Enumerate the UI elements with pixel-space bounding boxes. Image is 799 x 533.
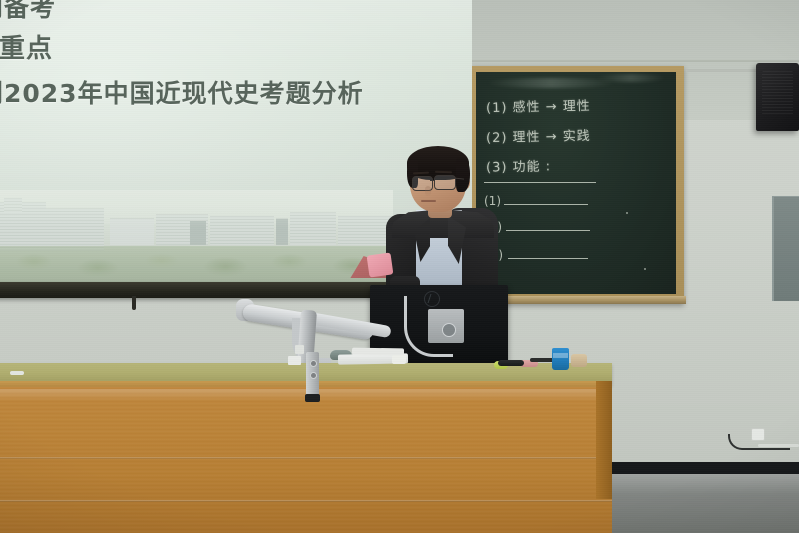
clamp-foot [305, 394, 320, 402]
desk-beige-object[interactable] [571, 354, 587, 367]
slide-line-1: 问备考 [0, 0, 56, 24]
chalk-dot [626, 212, 628, 214]
pink-object [367, 252, 394, 277]
slide-line-3: 到2023年中国近现代史考题分析 [0, 74, 364, 110]
speaker-grille [762, 71, 793, 115]
chalk-blank-rule-1 [504, 204, 588, 205]
clamp-screw [310, 372, 317, 379]
glasses-bridge [430, 180, 435, 181]
wall-cable-run [758, 444, 799, 447]
wall-speaker [756, 63, 799, 131]
chalk-underline [484, 182, 596, 183]
blue-cup-label [553, 353, 568, 358]
outlet-cable [728, 434, 790, 450]
chalk-blank-rule-2 [506, 230, 590, 231]
screen-pull-tab[interactable] [132, 296, 136, 310]
blackboard: (1) 感性 → 理性 (2) 理性 → 实践 (3) 功能 : (1) (2)… [476, 72, 676, 294]
nose [425, 186, 431, 196]
slide-line-2: 一重点 [0, 28, 53, 65]
chalk-dot [644, 268, 646, 270]
desk-blue-cup[interactable] [552, 348, 569, 370]
speaker-mount-rail [686, 69, 758, 72]
desk-plug[interactable] [392, 355, 406, 364]
floor-reflection [596, 474, 799, 494]
podium-panel-seam [0, 457, 612, 459]
chalk-smudge [596, 74, 666, 82]
desk-left-small-object[interactable] [10, 371, 24, 375]
desk-white-object[interactable] [288, 356, 301, 365]
chalk-line-1: (1) 感性 → 理性 [486, 95, 591, 116]
mouth [421, 200, 436, 202]
podium-wood-grain [0, 387, 612, 533]
hair-side-right [456, 158, 470, 192]
chalk-smudge [486, 78, 616, 88]
desk-white-object-small[interactable] [295, 345, 304, 354]
wall-panel [772, 196, 799, 301]
desk-remote[interactable] [498, 360, 524, 366]
chalk-blank-rule-3 [508, 258, 588, 259]
lecture-hall-photo: (1) 感性 → 理性 (2) 理性 → 实践 (3) 功能 : (1) (2)… [0, 0, 799, 533]
podium-side-panel [596, 381, 612, 499]
clamp-screw [310, 360, 317, 367]
instructor [390, 148, 496, 298]
podium-panel-seam [0, 500, 612, 502]
wall-seam-line [470, 60, 799, 62]
chalk-line-2: (2) 理性 → 实践 [486, 125, 591, 146]
